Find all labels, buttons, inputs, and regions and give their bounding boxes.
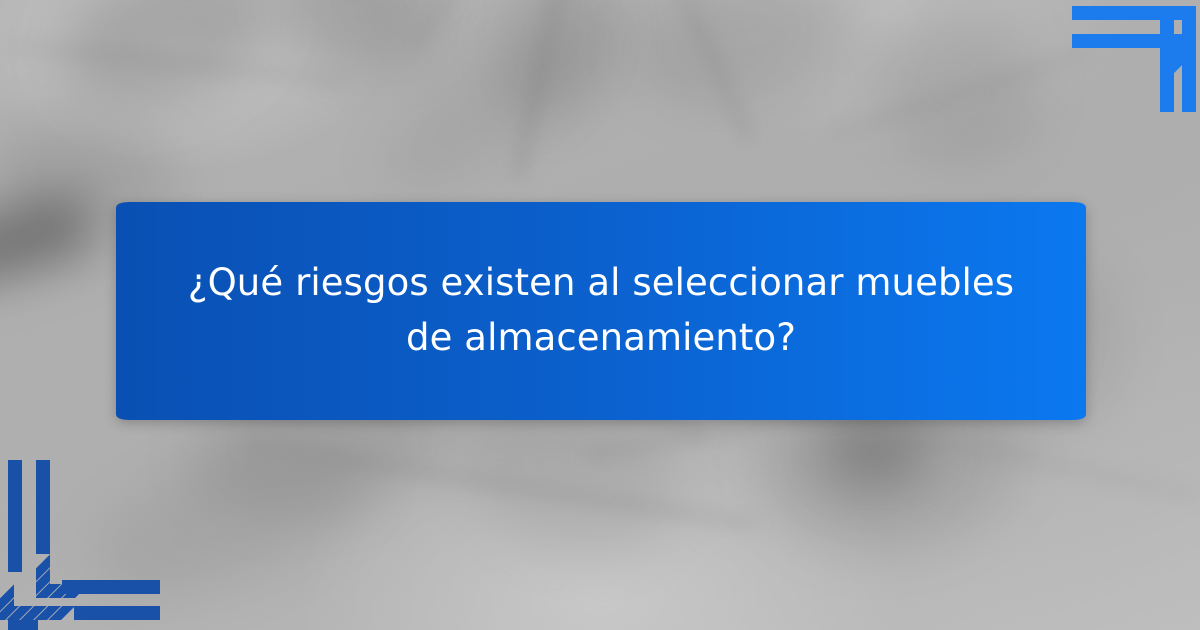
share-card-canvas: ¿Qué riesgos existen al seleccionar mueb… <box>0 0 1200 630</box>
headline-banner: ¿Qué riesgos existen al seleccionar mueb… <box>102 202 1100 420</box>
headline-text: ¿Qué riesgos existen al seleccionar mueb… <box>102 202 1100 420</box>
